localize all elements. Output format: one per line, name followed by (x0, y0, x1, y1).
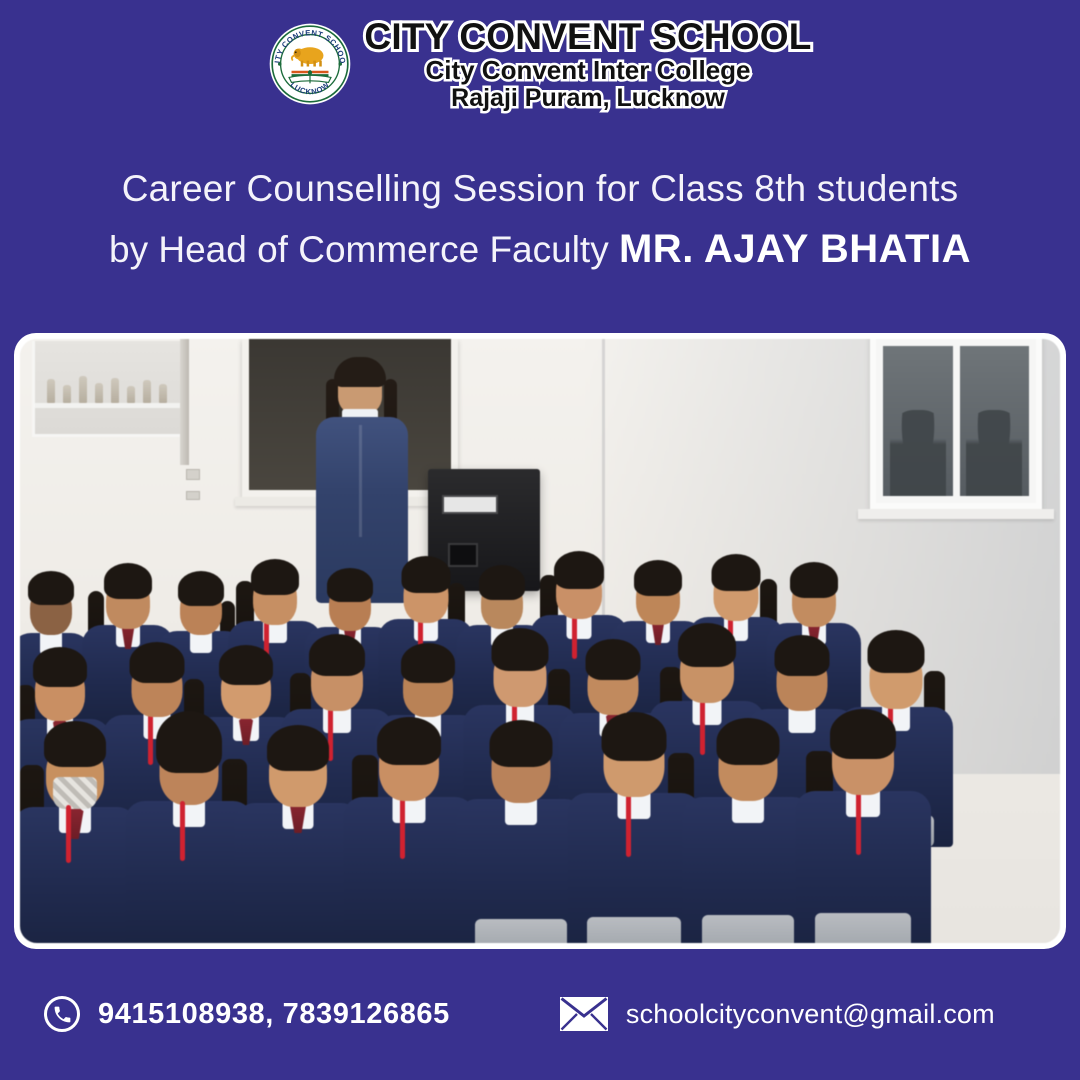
trophy (143, 380, 151, 403)
poster-footer: 9415108938, 7839126865 schoolcityconvent… (0, 948, 1080, 1080)
poster-header: CITY CONVENT SCHOOL LUCKNOW CITY CONVENT… (0, 0, 1080, 128)
student (344, 721, 474, 943)
audience-row-front (20, 727, 1060, 943)
student (684, 723, 812, 943)
trophy (159, 384, 167, 403)
email-address: schoolcityconvent@gmail.com (626, 999, 995, 1030)
contact-phone[interactable]: 9415108938, 7839126865 (44, 996, 450, 1032)
event-photo-frame (14, 333, 1066, 949)
phone-icon (44, 996, 80, 1032)
trophy (63, 385, 71, 403)
phone-numbers: 9415108938, 7839126865 (98, 998, 450, 1031)
college-name: City Convent Inter College (425, 57, 750, 83)
event-title-block: Career Counselling Session for Class 8th… (0, 160, 1080, 279)
student (20, 731, 136, 943)
student (126, 727, 252, 943)
event-photo (20, 339, 1060, 943)
envelope-icon (560, 997, 608, 1031)
contact-email[interactable]: schoolcityconvent@gmail.com (560, 997, 995, 1031)
cabinet-shelf (35, 403, 181, 408)
trophy-cabinet (32, 341, 184, 437)
trophy (111, 378, 119, 403)
student (458, 725, 584, 943)
event-title-line-2: by Head of Commerce Faculty MR. AJAY BHA… (0, 220, 1080, 279)
student (796, 717, 930, 943)
trophy (79, 376, 87, 403)
school-logo: CITY CONVENT SCHOOL LUCKNOW (268, 22, 352, 106)
student-audience (20, 473, 1060, 943)
school-name-block: CITY CONVENT SCHOOL City Convent Inter C… (364, 18, 811, 111)
school-name: CITY CONVENT SCHOOL (364, 18, 811, 55)
event-title-prefix: by Head of Commerce Faculty (109, 229, 619, 270)
event-title-line-1: Career Counselling Session for Class 8th… (0, 160, 1080, 218)
student (236, 729, 360, 943)
student (568, 719, 700, 943)
cabinet-post (180, 339, 189, 465)
trophy (95, 383, 103, 403)
school-address: Rajaji Puram, Lucknow (451, 86, 725, 111)
trophy (127, 386, 135, 403)
student-hair (334, 357, 386, 387)
face-mask (53, 777, 97, 809)
trophy (47, 379, 55, 403)
presenter-name: MR. AJAY BHATIA (619, 227, 971, 271)
